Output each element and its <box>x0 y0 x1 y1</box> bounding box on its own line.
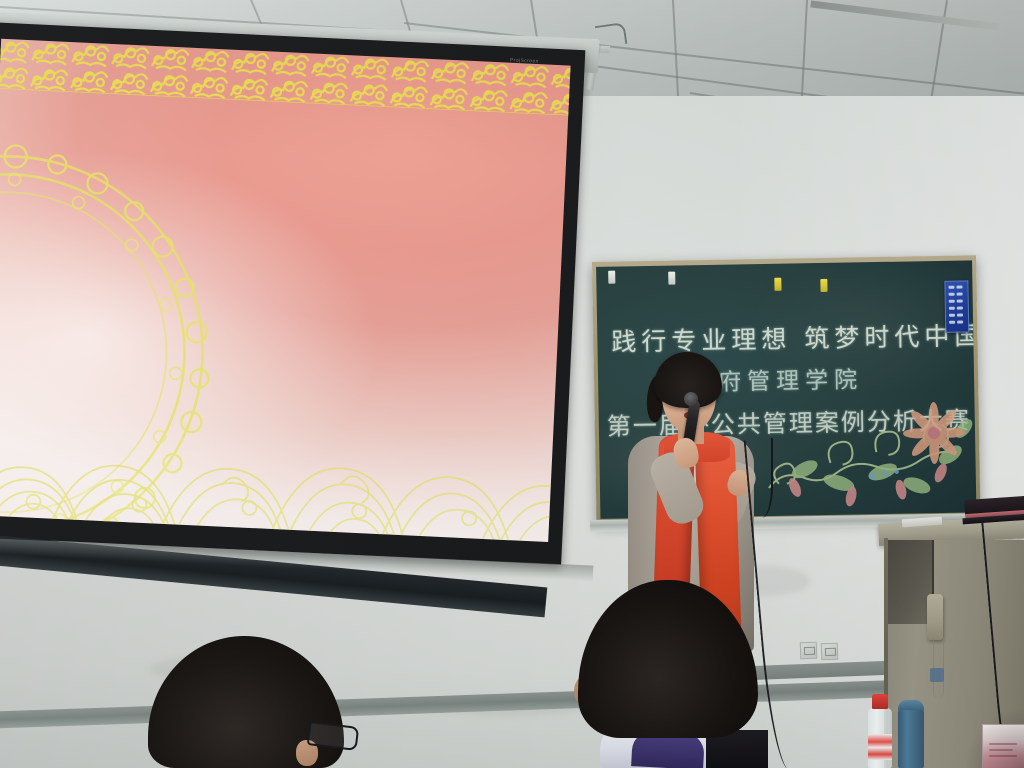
board-clip-white-1[interactable] <box>608 271 615 284</box>
student-front-right <box>578 580 768 768</box>
cord-tag <box>930 668 944 682</box>
student-right-hair <box>578 580 758 738</box>
projected-slide <box>0 39 571 542</box>
pull-down-projection-screen[interactable] <box>0 22 585 565</box>
board-clip-yellow-1[interactable] <box>774 278 781 291</box>
classroom-photo-scene: ProjScreen 践行专业理想 筑梦时代中国 府管理学院 第一届杯公共管理案… <box>0 0 1024 768</box>
bottle-cap <box>872 694 888 709</box>
board-clip-yellow-2[interactable] <box>820 279 827 292</box>
ceiling-wire <box>595 22 628 48</box>
wall-phone-handset[interactable] <box>927 594 943 640</box>
blue-thermos[interactable] <box>898 704 924 768</box>
blue-notice-card[interactable] <box>944 280 969 332</box>
bottle-label <box>868 734 892 760</box>
water-bottle[interactable] <box>868 694 892 768</box>
student-front-left <box>148 636 360 768</box>
board-clip-white-2[interactable] <box>668 272 675 285</box>
wall-outlet-2[interactable] <box>821 643 839 661</box>
screen-brand-label: ProjScreen <box>510 57 539 64</box>
thermos-lid[interactable] <box>898 700 924 710</box>
